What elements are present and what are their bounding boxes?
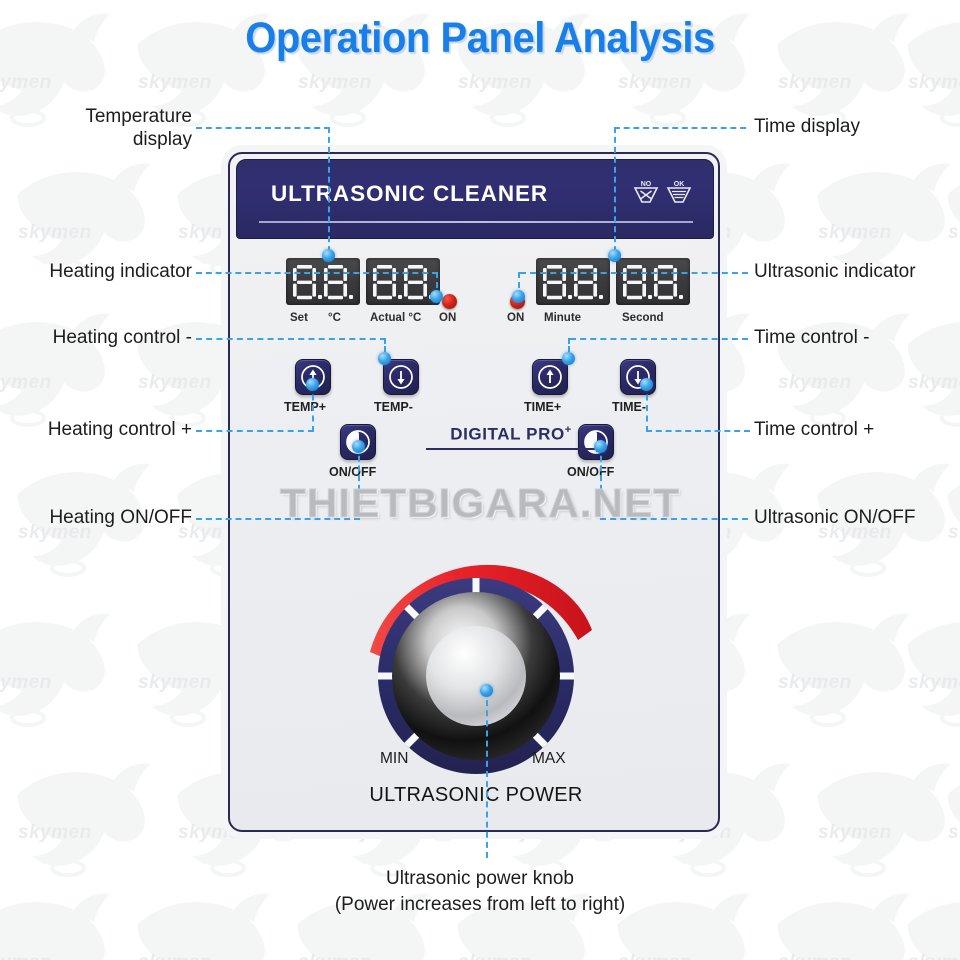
brand-text: DIGITAL PRO+ [426, 424, 596, 445]
callout-line-heating-control-plus-h [196, 430, 314, 432]
callout-line-time-control-minus-h [570, 338, 748, 340]
brand-name: DIGITAL PRO [450, 425, 565, 444]
callout-heating-onoff: Heating ON/OFF [0, 506, 192, 529]
dolphin-watermark [810, 760, 960, 880]
arrow-up-icon [537, 364, 563, 390]
callout-line-power-knob-v [486, 690, 488, 858]
callout-line-heating-onoff-h [196, 518, 360, 520]
minute-label: Minute [544, 312, 581, 324]
ok-basket-icon: OK [665, 178, 693, 209]
second-digits [616, 258, 690, 305]
svg-text:OK: OK [674, 181, 685, 188]
dolphin-watermark [940, 460, 960, 580]
brand-underline [426, 448, 596, 450]
dolphin-watermark [940, 160, 960, 280]
callout-dot-ultrasonic-indicator [512, 290, 525, 303]
heating-indicator-label: ON [439, 312, 456, 324]
callout-time-control-plus: Time control + [754, 418, 874, 441]
callout-power-knob: Ultrasonic power knob (Power increases f… [0, 866, 960, 917]
callout-line-heating-control-minus-h [196, 338, 386, 340]
callout-power-knob-line1: Ultrasonic power knob [0, 866, 960, 892]
panel-header: ULTRASONIC CLEANER NO OK [236, 159, 714, 239]
skymen-watermark: skymen [778, 72, 852, 94]
callout-dot-temperature-display [322, 249, 335, 262]
header-divider [259, 221, 693, 223]
skymen-watermark: skymen [0, 372, 52, 394]
callout-time-control-minus: Time control - [754, 326, 869, 349]
callout-dot-time-down-button [640, 378, 653, 391]
skymen-watermark: skymen [138, 952, 212, 960]
skymen-watermark: skymen [18, 222, 92, 244]
temp-down-label: TEMP- [374, 400, 413, 414]
skymen-watermark: skymen [138, 372, 212, 394]
skymen-watermark: skymen [0, 72, 52, 94]
minute-digits [536, 258, 610, 305]
callout-heating-indicator: Heating indicator [0, 260, 192, 283]
skymen-watermark: skymen [618, 72, 692, 94]
skymen-watermark: skymen [948, 822, 960, 844]
ultrasonic-power-caption: ULTRASONIC POWER [230, 784, 722, 807]
callout-time-display: Time display [754, 115, 860, 138]
time-down-button[interactable] [620, 359, 656, 395]
page-title: Operation Panel Analysis [34, 14, 927, 63]
skymen-watermark: skymen [818, 222, 892, 244]
temp-up-label: TEMP+ [284, 400, 326, 414]
dolphin-watermark [770, 610, 920, 730]
callout-temperature-display: Temperature display [0, 105, 192, 151]
skymen-watermark: skymen [778, 372, 852, 394]
skymen-watermark: skymen [948, 522, 960, 544]
callout-line-time-control-plus-v [646, 384, 648, 432]
skymen-watermark: skymen [778, 672, 852, 694]
skymen-watermark: skymen [18, 822, 92, 844]
svg-text:NO: NO [641, 181, 652, 188]
skymen-watermark: skymen [618, 952, 692, 960]
operation-panel-analysis-figure: skymenskymenskymenskymenskymenskymenskym… [0, 0, 960, 960]
callout-temperature-display-line2: display [0, 128, 192, 151]
callout-dot-power-knob [480, 684, 493, 697]
callout-dot-heating-onoff [352, 440, 365, 453]
skymen-watermark: skymen [908, 372, 960, 394]
panel-header-title: ULTRASONIC CLEANER [271, 181, 548, 207]
skymen-watermark: skymen [0, 672, 52, 694]
skymen-watermark: skymen [138, 672, 212, 694]
skymen-watermark: skymen [818, 822, 892, 844]
heating-onoff-label: ON/OFF [329, 465, 376, 479]
skymen-watermark: skymen [0, 952, 52, 960]
skymen-watermark: skymen [458, 952, 532, 960]
skymen-watermark: skymen [778, 952, 852, 960]
knob-center-cap [426, 626, 526, 726]
skymen-watermark: skymen [298, 952, 372, 960]
callout-ultrasonic-indicator: Ultrasonic indicator [754, 260, 916, 283]
actual-temp-digits [366, 258, 440, 305]
temp-down-button[interactable] [383, 359, 419, 395]
callout-line-temperature-display-v [328, 127, 330, 262]
skymen-watermark: skymen [908, 72, 960, 94]
ultrasonic-indicator-label: ON [507, 312, 524, 324]
skymen-watermark: skymen [298, 72, 372, 94]
heating-indicator [442, 294, 457, 309]
dolphin-watermark [900, 610, 960, 730]
actual-celsius-label: Actual °C [370, 312, 421, 324]
celsius-label-set: °C [328, 312, 341, 324]
callout-heating-control-minus: Heating control - [0, 326, 192, 349]
ultrasonic-onoff-label: ON/OFF [567, 465, 614, 479]
callout-heating-control-plus: Heating control + [0, 418, 192, 441]
callout-line-heating-control-plus-v [312, 384, 314, 432]
time-up-button[interactable] [532, 359, 568, 395]
callout-line-time-control-plus-h [646, 430, 750, 432]
set-temp-digits [286, 258, 360, 305]
brand-mark: DIGITAL PRO+ [426, 424, 596, 450]
callout-line-ultrasonic-onoff-h [600, 518, 748, 520]
callout-dot-ultrasonic-onoff [594, 440, 607, 453]
callout-line-ultrasonic-onoff-v [600, 446, 602, 520]
callout-dot-temp-down-button [378, 352, 391, 365]
dolphin-watermark [0, 610, 120, 730]
callout-line-ultrasonic-indicator-h [520, 272, 748, 274]
callout-dot-time-display [608, 249, 621, 262]
callout-line-temperature-display-h [196, 127, 330, 129]
callout-power-knob-line2: (Power increases from left to right) [0, 892, 960, 918]
skymen-watermark: skymen [138, 72, 212, 94]
knob-min-label: MIN [380, 750, 408, 768]
skymen-watermark: skymen [948, 222, 960, 244]
callout-dot-heating-indicator [430, 290, 443, 303]
callout-line-time-display-v [614, 127, 616, 262]
dolphin-watermark [940, 760, 960, 880]
callout-ultrasonic-onoff: Ultrasonic ON/OFF [754, 506, 916, 529]
callout-line-time-display-h [614, 127, 746, 129]
callout-dot-temp-up-button [306, 378, 319, 391]
time-up-label: TIME+ [524, 400, 561, 414]
set-label: Set [290, 312, 308, 324]
second-label: Second [622, 312, 664, 324]
arrow-down-icon [388, 364, 414, 390]
dolphin-watermark [900, 310, 960, 430]
callout-dot-time-up-button [562, 352, 575, 365]
skymen-watermark: skymen [458, 72, 532, 94]
skymen-watermark: skymen [908, 952, 960, 960]
callout-line-heating-indicator-h [196, 272, 438, 274]
callout-temperature-display-line1: Temperature [0, 105, 192, 128]
callout-line-heating-onoff-v [358, 446, 360, 520]
dolphin-watermark [10, 760, 160, 880]
skymen-watermark: skymen [908, 672, 960, 694]
knob-max-label: MAX [532, 750, 566, 768]
time-down-label: TIME- [612, 400, 646, 414]
no-basket-icon: NO [632, 178, 660, 209]
ultrasonic-power-knob[interactable] [356, 544, 596, 784]
brand-superscript: + [565, 424, 572, 436]
control-panel: ULTRASONIC CLEANER NO OK [228, 152, 720, 832]
